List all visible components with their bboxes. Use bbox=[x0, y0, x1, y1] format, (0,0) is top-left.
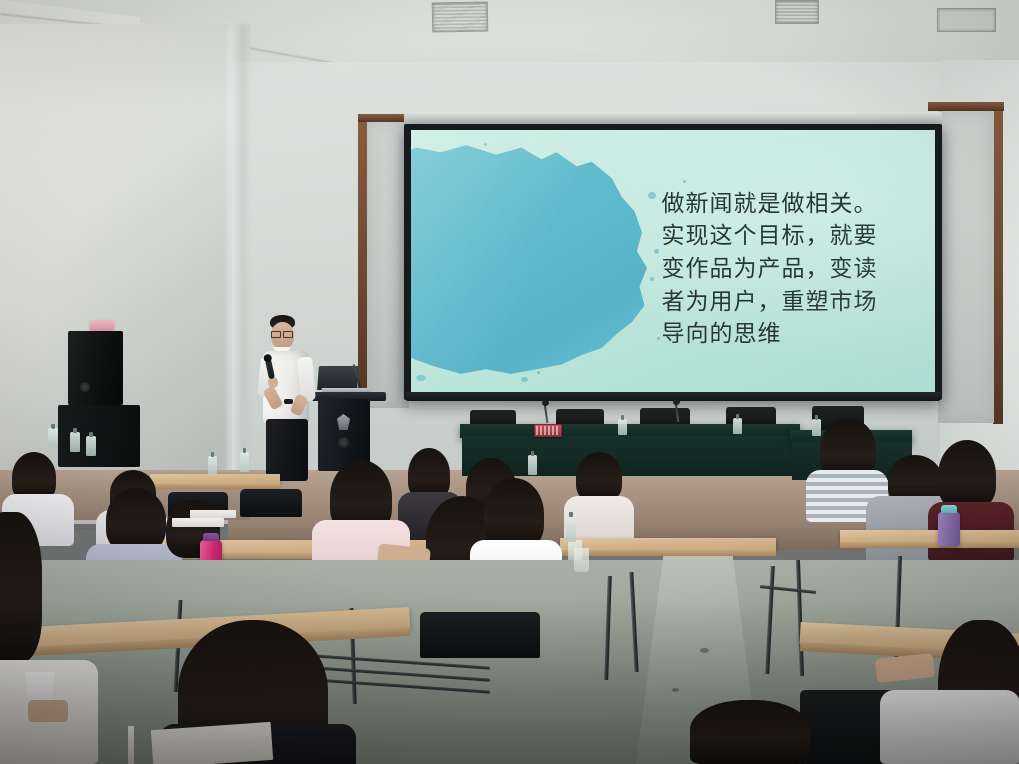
slide-speck bbox=[537, 371, 540, 374]
desk-row-middle-right bbox=[560, 538, 776, 550]
name-placard-text bbox=[536, 426, 560, 435]
notebook bbox=[151, 722, 273, 764]
head-table-skirt bbox=[462, 436, 800, 476]
paper-sheet bbox=[190, 510, 236, 518]
left-wall-panel bbox=[367, 122, 409, 408]
water-bottle bbox=[566, 516, 576, 542]
water-bottle bbox=[733, 418, 742, 434]
head-table-microphone bbox=[542, 400, 549, 406]
thermos-lid bbox=[941, 505, 957, 513]
pink-object-on-speaker bbox=[90, 320, 114, 331]
speaker-driver-icon bbox=[80, 382, 90, 392]
wall-corner-highlight bbox=[228, 24, 246, 504]
desk-row-back bbox=[150, 474, 280, 484]
purple-thermos bbox=[938, 512, 960, 546]
floor-scuff bbox=[700, 648, 709, 653]
blob-shape bbox=[411, 140, 652, 376]
presenter-glasses-icon bbox=[271, 331, 293, 336]
attendee-hair bbox=[576, 452, 622, 502]
hvac-vent-icon bbox=[775, 0, 819, 24]
water-bottle bbox=[240, 452, 249, 472]
name-placard bbox=[534, 424, 562, 437]
thermos-lid bbox=[203, 533, 219, 541]
attendee-hair bbox=[938, 440, 996, 510]
desk-row-middle-far-right bbox=[840, 530, 1019, 542]
water-bottle bbox=[49, 428, 58, 446]
chair bbox=[420, 612, 540, 658]
blob-speck bbox=[654, 249, 659, 254]
paper-sheet bbox=[172, 518, 224, 527]
water-bottle bbox=[618, 419, 627, 435]
right-wall-panel bbox=[938, 111, 994, 423]
pen bbox=[128, 726, 134, 764]
desk-edge bbox=[560, 550, 776, 556]
attendee-hand bbox=[28, 700, 68, 722]
attendee-hair-foreground bbox=[690, 700, 810, 764]
podium-speaker-icon bbox=[338, 437, 349, 448]
hvac-vent-icon bbox=[432, 2, 489, 33]
water-bottle bbox=[208, 456, 217, 474]
drinking-glass bbox=[574, 548, 589, 572]
head-table-microphone bbox=[673, 399, 680, 405]
attendee-hair-foreground bbox=[0, 512, 42, 662]
lecture-hall-photo: 做新闻就是做相关。 实现这个目标，就要 变作品为产品，变读 者为用户，重塑市场 … bbox=[0, 0, 1019, 764]
water-bottle bbox=[812, 419, 821, 436]
water-bottle bbox=[70, 432, 80, 452]
chair bbox=[240, 489, 302, 517]
presenter-trousers bbox=[266, 419, 308, 481]
slide-text: 做新闻就是做相关。 实现这个目标，就要 变作品为产品，变读 者为用户，重塑市场 … bbox=[662, 188, 908, 351]
right-panel-frame-top bbox=[928, 102, 1004, 111]
hvac-vent-icon bbox=[937, 8, 996, 32]
slide-watercolor-blob bbox=[411, 140, 652, 376]
floor-scuff bbox=[672, 688, 679, 692]
presenter-watch bbox=[284, 399, 293, 404]
speaker-cabinet-top bbox=[68, 331, 123, 405]
left-panel-frame bbox=[358, 116, 367, 408]
right-panel-frame bbox=[993, 104, 1003, 424]
projector-screen: 做新闻就是做相关。 实现这个目标，就要 变作品为产品，变读 者为用户，重塑市场 … bbox=[411, 130, 935, 392]
desk-edge bbox=[840, 542, 1019, 548]
attendee-hair bbox=[106, 488, 166, 552]
laptop-screen bbox=[317, 366, 359, 390]
water-bottle bbox=[528, 455, 537, 475]
water-bottle bbox=[86, 436, 96, 456]
attendee-torso-foreground bbox=[880, 690, 1019, 764]
